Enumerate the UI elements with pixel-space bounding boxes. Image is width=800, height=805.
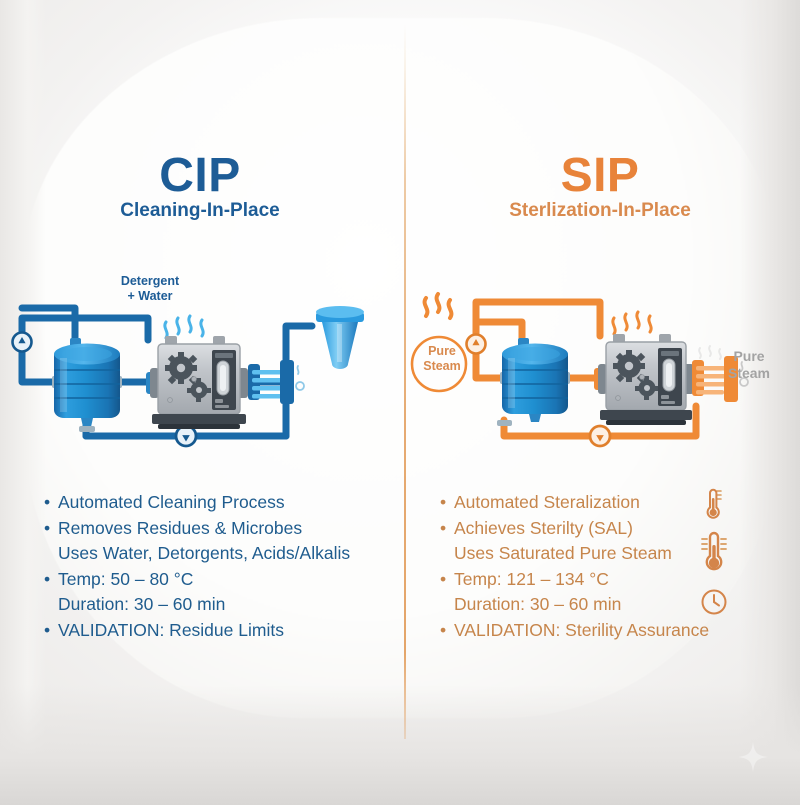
clock-icon xyxy=(699,587,729,617)
cip-bullet-4: Duration: 30 – 60 min xyxy=(44,592,350,618)
sip-outlet-label: Pure Steam xyxy=(712,348,786,382)
cip-bullet-1: Removes Residues & Microbes xyxy=(44,516,350,542)
infographic-canvas: CIP Cleaning-In-Place Detergent + Water xyxy=(0,0,800,805)
sip-tank xyxy=(497,338,570,426)
cip-bullet-0: Automated Cleaning Process xyxy=(44,490,350,516)
sip-side-icon-stack xyxy=(700,487,746,617)
cip-heat-exchanger xyxy=(248,360,304,404)
cip-bullet-list: Automated Cleaning Process Removes Resid… xyxy=(44,490,350,643)
cip-title: CIP xyxy=(0,148,400,203)
cip-diagram: Detergent + Water xyxy=(0,260,400,460)
cip-bullet-3: Temp: 50 – 80 °C xyxy=(44,567,350,593)
sip-bullet-3: Temp: 121 – 134 °C xyxy=(440,567,709,593)
sip-diagram: Pure Steam Pure Steam xyxy=(400,260,800,460)
cip-bullet-5: VALIDATION: Residue Limits xyxy=(44,618,350,644)
thermometer-small-icon xyxy=(700,487,726,523)
cip-subtitle: Cleaning-In-Place xyxy=(0,200,400,222)
sip-bullet-2: Uses Saturated Pure Steam xyxy=(440,541,709,567)
sip-bullet-1: Achieves Sterilty (SAL) xyxy=(440,516,709,542)
sip-valve-bottom xyxy=(590,426,610,446)
cip-column: CIP Cleaning-In-Place Detergent + Water xyxy=(0,0,400,805)
cip-inlet-label: Detergent + Water xyxy=(98,274,202,304)
sip-inlet-label: Pure Steam xyxy=(410,344,474,374)
sip-bullet-4: Duration: 30 – 60 min xyxy=(440,592,709,618)
sip-bullet-list: Automated Steralization Achieves Sterilt… xyxy=(440,490,709,643)
cip-machine xyxy=(146,336,248,429)
sip-subtitle: Sterlization-In-Place xyxy=(400,200,800,222)
cip-steam-wisps xyxy=(165,316,203,338)
sip-machine-steam-wisps xyxy=(613,312,651,334)
thermometer-large-icon xyxy=(696,529,732,579)
cip-bullet-2: Uses Water, Detorgents, Acids/Alkalis xyxy=(44,541,350,567)
sip-machine xyxy=(594,334,694,425)
sip-bullet-5: VALIDATION: Sterility Assurance xyxy=(440,618,709,644)
cip-tank xyxy=(52,338,122,432)
cip-valve-top xyxy=(13,333,32,352)
sip-bullet-0: Automated Steralization xyxy=(440,490,709,516)
sip-column: SIP Sterlization-In-Place Pure Steam Pur… xyxy=(400,0,800,805)
sip-title: SIP xyxy=(400,148,800,203)
cip-funnel-filter xyxy=(316,306,364,369)
sip-inlet-steam-wisps xyxy=(425,294,452,318)
